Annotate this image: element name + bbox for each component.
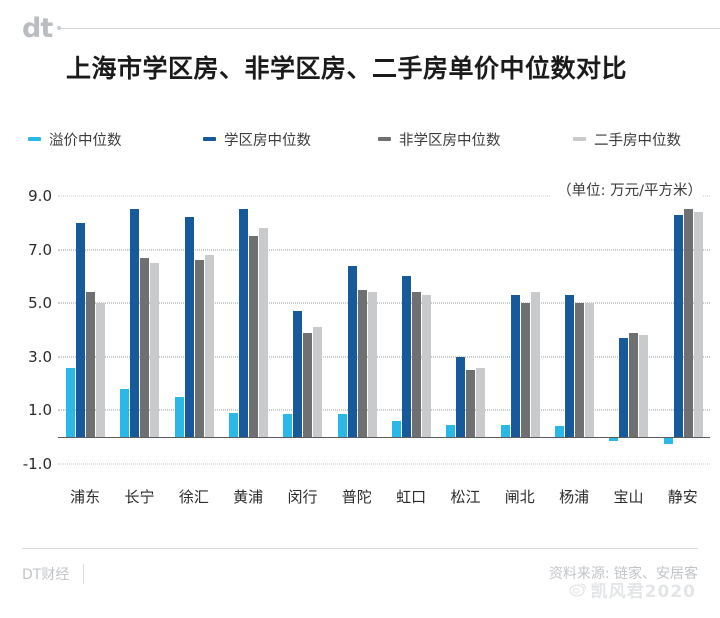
x-axis-tick: 黄浦 [221,486,275,507]
y-axis-tick: -1.0 [23,455,52,473]
bar-4[interactable] [259,228,268,437]
bar-1[interactable] [229,413,238,437]
bar-4[interactable] [585,303,594,437]
bar-group [275,180,329,480]
bar-2[interactable] [293,311,302,437]
bar-4[interactable] [694,212,703,437]
axis-baseline [58,437,710,438]
bar-3[interactable] [195,260,204,437]
bar-1[interactable] [392,421,401,437]
bar-1[interactable] [283,414,292,437]
bar-2[interactable] [674,215,683,437]
legend-item-2[interactable]: 学区房中位数 [203,129,311,150]
legend-item-1[interactable]: 溢价中位数 [28,129,122,150]
bar-3[interactable] [140,258,149,438]
legend-swatch-icon [378,137,391,141]
bar-3[interactable] [684,209,693,437]
bar-4[interactable] [205,255,214,437]
footer-brand-block: DT财经 [22,564,84,584]
legend-label: 溢价中位数 [49,129,122,150]
y-axis-labels: 9.07.05.03.01.0-1.0 [0,180,58,480]
bar-1[interactable] [664,437,673,444]
bar-group [493,180,547,480]
footer-rule-top [22,548,698,549]
bar-2[interactable] [76,223,85,437]
bar-group [167,180,221,480]
bar-group [601,180,655,480]
bar-4[interactable] [639,335,648,437]
watermark-text: 凯风君2020 [591,577,696,602]
bar-4[interactable] [422,295,431,437]
x-axis-tick: 杨浦 [547,486,601,507]
footer-brand-label: DT财经 [22,564,69,584]
bar-2[interactable] [619,338,628,437]
bar-groups [58,180,710,480]
bar-1[interactable] [66,368,75,438]
bar-2[interactable] [565,295,574,437]
bar-4[interactable] [313,327,322,437]
bar-1[interactable] [120,389,129,437]
bar-2[interactable] [130,209,139,437]
bar-1[interactable] [338,414,347,437]
bar-3[interactable] [86,292,95,437]
x-axis-tick: 长宁 [112,486,166,507]
bar-4[interactable] [476,368,485,438]
bar-3[interactable] [629,333,638,438]
x-axis-tick: 闸北 [493,486,547,507]
bar-4[interactable] [531,292,540,437]
legend-label: 学区房中位数 [224,129,311,150]
bar-2[interactable] [239,209,248,437]
y-axis-tick: 3.0 [28,348,52,366]
legend-swatch-icon [203,137,216,141]
bar-group [656,180,710,480]
bar-2[interactable] [185,217,194,437]
bar-2[interactable] [348,266,357,438]
legend-item-3[interactable]: 非学区房中位数 [378,129,501,150]
bar-group [384,180,438,480]
bar-3[interactable] [466,370,475,437]
legend-label: 非学区房中位数 [399,129,501,150]
bar-1[interactable] [175,397,184,437]
bar-group [330,180,384,480]
bar-3[interactable] [412,292,421,437]
bar-group [112,180,166,480]
legend-swatch-icon [573,137,586,141]
x-axis-tick: 虹口 [384,486,438,507]
x-axis-tick: 徐汇 [167,486,221,507]
x-axis-labels: 浦东长宁徐汇黄浦闵行普陀虹口松江闸北杨浦宝山静安 [58,486,710,507]
x-axis-tick: 普陀 [330,486,384,507]
bar-2[interactable] [456,357,465,437]
bar-1[interactable] [501,425,510,437]
bar-3[interactable] [249,236,258,437]
bar-2[interactable] [402,276,411,437]
bar-4[interactable] [150,263,159,437]
weibo-icon [569,582,587,597]
dt-logo-icon: dt [22,15,52,42]
x-axis-tick: 宝山 [601,486,655,507]
bar-group [58,180,112,480]
bar-2[interactable] [511,295,520,437]
chart-legend: 溢价中位数学区房中位数非学区房中位数二手房中位数 [28,129,700,149]
unit-note: （单位: 万元/平方米） [551,179,702,200]
x-axis-tick: 静安 [656,486,710,507]
legend-item-4[interactable]: 二手房中位数 [573,129,681,150]
bar-3[interactable] [521,303,530,437]
x-axis-tick: 松江 [438,486,492,507]
bar-group [438,180,492,480]
bar-4[interactable] [96,303,105,437]
page-title: 上海市学区房、非学区房、二手房单价中位数对比 [66,49,627,85]
bar-3[interactable] [575,303,584,437]
bar-1[interactable] [555,426,564,437]
legend-label: 二手房中位数 [594,129,681,150]
y-axis-tick: 1.0 [28,401,52,419]
y-axis-tick: 7.0 [28,241,52,259]
bar-1[interactable] [446,425,455,437]
x-axis-tick: 闵行 [275,486,329,507]
bar-4[interactable] [368,292,377,437]
header-rule [61,28,720,29]
footer-divider [83,564,84,584]
bar-3[interactable] [358,290,367,437]
y-axis-tick: 9.0 [28,187,52,205]
legend-swatch-icon [28,137,41,141]
x-axis-tick: 浦东 [58,486,112,507]
brand-header: dt [22,10,720,46]
footer: DT财经 资料来源: 链家、安居客 凯风君2020 [22,548,698,600]
y-axis-tick: 5.0 [28,294,52,312]
bar-group [221,180,275,480]
bar-3[interactable] [303,333,312,438]
bar-group [547,180,601,480]
watermark: 凯风君2020 [569,577,696,602]
chart-plot-area: （单位: 万元/平方米） 9.07.05.03.01.0-1.0 浦东长宁徐汇黄… [0,180,720,480]
